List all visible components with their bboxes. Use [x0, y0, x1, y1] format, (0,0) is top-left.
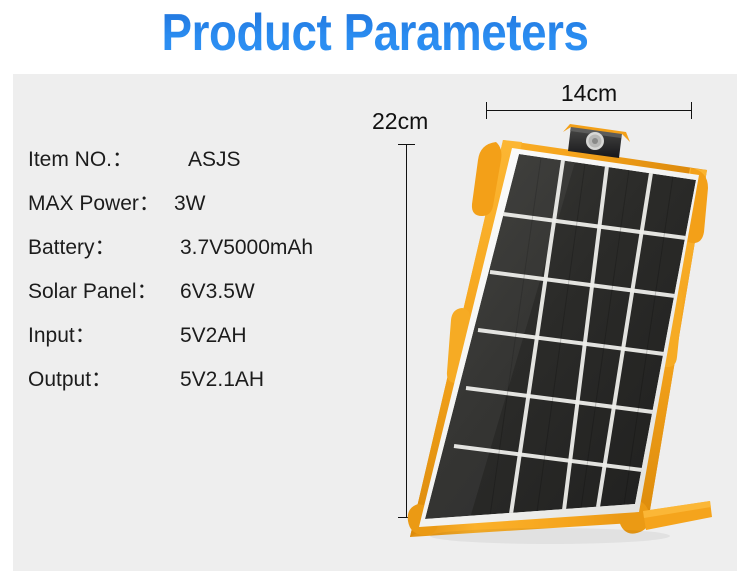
dimension-width-cap-right: [691, 102, 692, 119]
spec-row-output: Output： 5V2.1AH: [28, 358, 358, 402]
spec-label: Input：: [28, 314, 96, 358]
spec-label: Output：: [28, 358, 112, 402]
spec-label: Battery：: [28, 226, 116, 270]
spec-value: 6V3.5W: [180, 270, 255, 314]
spec-row-input: Input： 5V2AH: [28, 314, 358, 358]
product-image-solar-panel: [400, 118, 730, 558]
spec-row-solar-panel: Solar Panel： 6V3.5W: [28, 270, 358, 314]
page-title: Product Parameters: [45, 2, 705, 64]
spec-value: 3W: [174, 182, 206, 226]
spec-label: Solar Panel：: [28, 270, 158, 314]
kickstand-leg: [643, 501, 712, 530]
spec-row-item-no: Item NO.： ASJS: [28, 138, 358, 182]
spec-value: 3.7V5000mAh: [180, 226, 313, 270]
spec-value: 5V2AH: [180, 314, 247, 358]
spec-row-battery: Battery： 3.7V5000mAh: [28, 226, 358, 270]
spec-value: 5V2.1AH: [180, 358, 264, 402]
title-bar: Product Parameters: [0, 0, 750, 74]
dimension-width-label: 14cm: [486, 80, 692, 107]
specs-list: Item NO.： ASJS MAX Power： 3W Battery： 3.…: [28, 138, 358, 402]
spec-value: ASJS: [188, 138, 241, 182]
product-parameters-infographic: Product Parameters Item NO.： ASJS MAX Po…: [0, 0, 750, 571]
dimension-width-line: [486, 110, 692, 111]
dimension-width-cap-left: [486, 102, 487, 119]
spec-row-max-power: MAX Power： 3W: [28, 182, 358, 226]
spec-label: Item NO.：: [28, 138, 133, 182]
spec-label: MAX Power：: [28, 182, 160, 226]
